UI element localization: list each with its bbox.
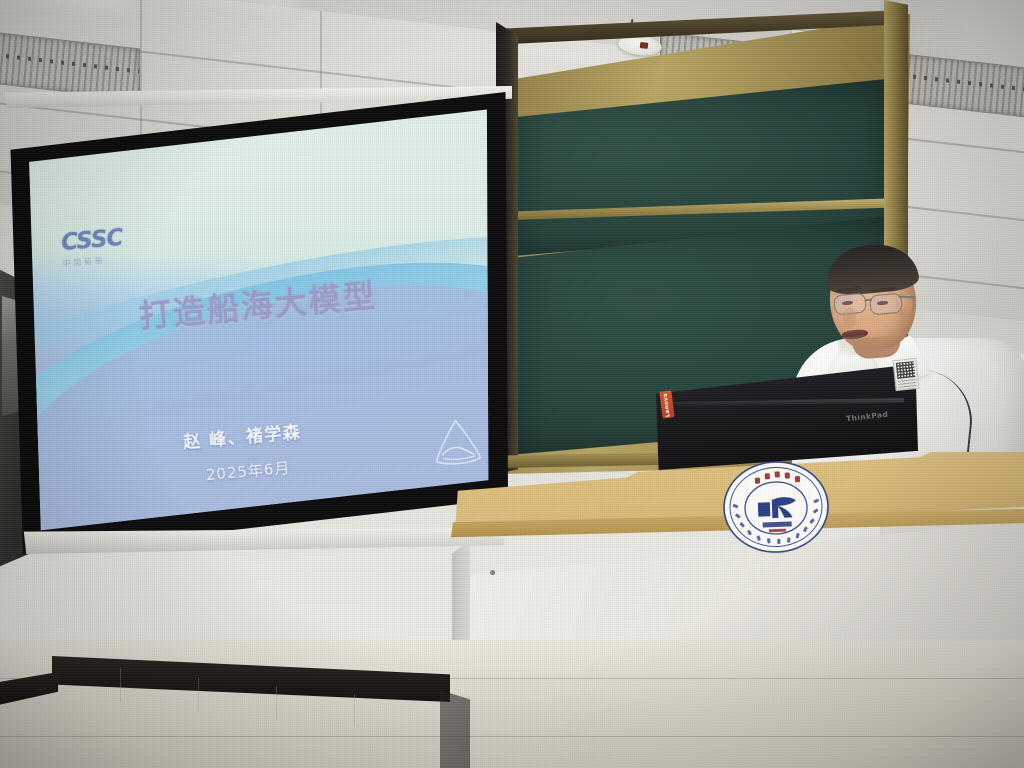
asset-qr-sticker xyxy=(892,358,919,391)
ceiling-air-vent xyxy=(0,29,140,100)
cssc-wordmark: CSSC xyxy=(60,227,123,255)
eyeglasses-lens-right xyxy=(869,293,903,316)
stage-edge xyxy=(440,690,470,768)
floor xyxy=(0,640,1024,768)
lecture-hall-photo: CSSC 中国船舶 打造船海大模型 赵 峰、褚学森 2025年6月 xyxy=(0,0,1024,768)
projection-screen-surface[interactable]: CSSC 中国船舶 打造船海大模型 赵 峰、褚学森 2025年6月 xyxy=(22,103,494,539)
presentation-slide: CSSC 中国船舶 打造船海大模型 赵 峰、褚学森 2025年6月 xyxy=(22,103,494,539)
qr-code-icon xyxy=(896,361,916,379)
presenter-nose xyxy=(842,307,857,328)
podium-screw xyxy=(490,570,495,575)
sticker-text-lines xyxy=(898,378,917,388)
cssc-logo: CSSC 中国船舶 xyxy=(60,227,124,269)
wave-crest-mark-icon xyxy=(428,415,486,470)
lenovo-logo-text: Lenovo xyxy=(663,392,672,417)
hust-university-emblem xyxy=(720,458,832,556)
